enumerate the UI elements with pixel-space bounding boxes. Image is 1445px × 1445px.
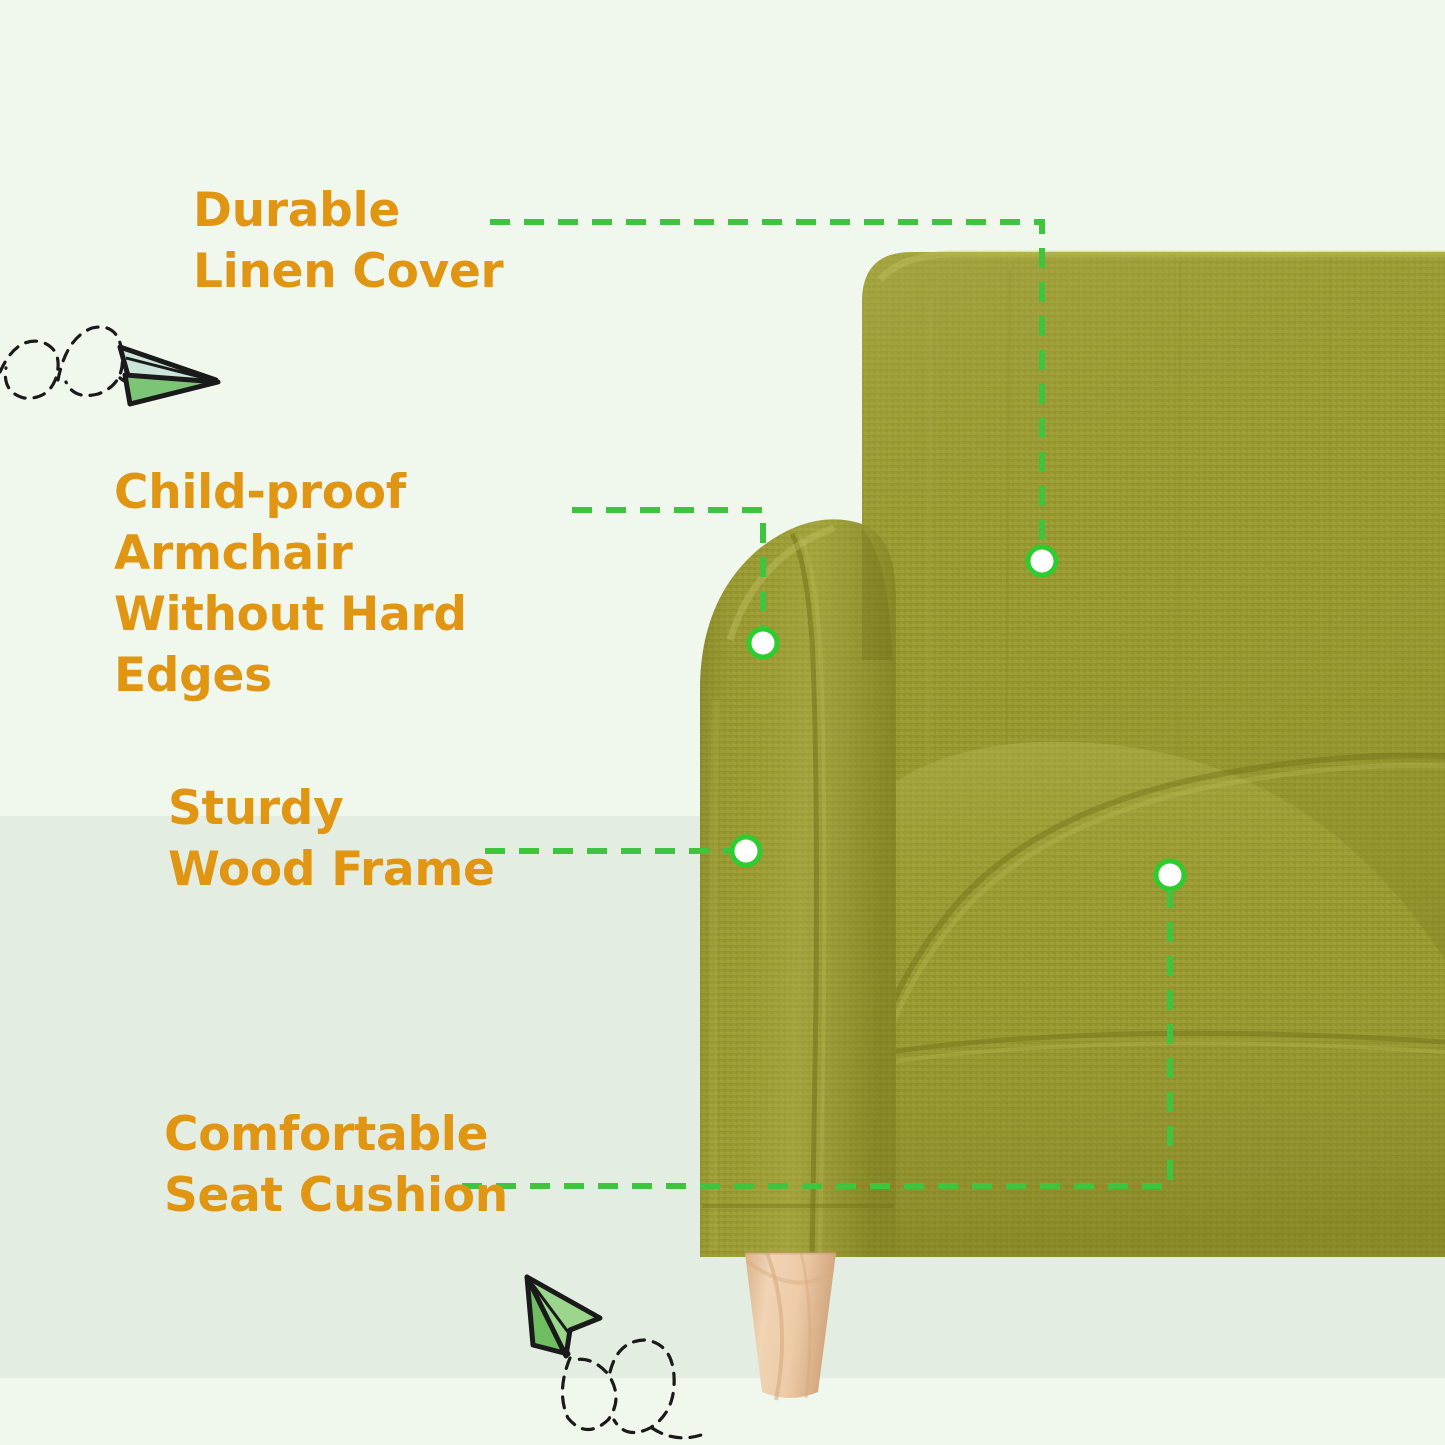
callout-dots	[732, 547, 1184, 889]
callout-dot-durable-linen-cover[interactable]	[1028, 547, 1056, 575]
callout-label-sturdy-wood-frame: Sturdy Wood Frame	[168, 778, 588, 900]
callout-dot-sturdy-wood-frame[interactable]	[732, 837, 760, 865]
callout-label-durable-linen-cover: Durable Linen Cover	[193, 180, 663, 302]
callout-dot-comfortable-seat-cushion[interactable]	[1156, 861, 1184, 889]
callout-label-child-proof-armchair: Child-proof Armchair Without Hard Edges	[114, 462, 634, 706]
infographic-canvas: Durable Linen Cover Child-proof Armchair…	[0, 0, 1445, 1445]
callout-label-comfortable-seat-cushion: Comfortable Seat Cushion	[164, 1104, 624, 1226]
callout-dot-child-proof-armchair[interactable]	[749, 629, 777, 657]
